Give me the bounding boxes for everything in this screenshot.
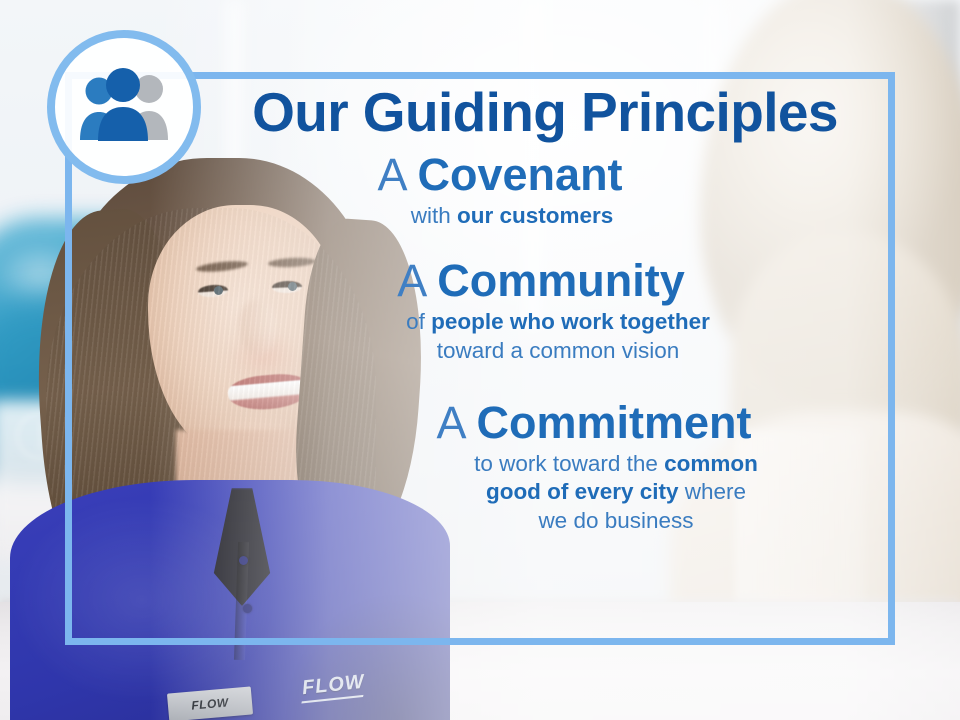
principle-subtext: with our customers <box>140 202 860 231</box>
subtext-part: where <box>679 479 747 504</box>
principle-subtext-line: we do business <box>372 507 860 536</box>
subtext-part-bold: our customers <box>457 203 613 228</box>
page-title: Our Guiding Principles <box>100 84 860 142</box>
principles-content: Our Guiding Principles A Covenant with o… <box>100 84 860 536</box>
subtext-part: toward a common vision <box>437 338 680 363</box>
principle-heading: A Covenant <box>140 152 860 199</box>
subtext-part: with <box>411 203 457 228</box>
guiding-principles-graphic: FLOW FLOW Our Guiding Principles A <box>0 0 960 720</box>
subtext-part: to work toward the <box>474 451 664 476</box>
subtext-part-bold: good of every city <box>486 479 679 504</box>
principle-subtext: to work toward the common good of every … <box>328 450 860 536</box>
principle-article: A <box>377 149 405 200</box>
subtext-part: of <box>406 309 431 334</box>
principle-keyword: Community <box>437 255 685 306</box>
principle-community: A Community of people who work together … <box>100 258 860 365</box>
principle-covenant: A Covenant with our customers <box>100 152 860 231</box>
principle-subtext-line: good of every city where <box>372 478 860 507</box>
principle-keyword: Covenant <box>418 149 623 200</box>
principle-subtext-line: with our customers <box>164 202 860 231</box>
subtext-part-bold: common <box>664 451 758 476</box>
name-badge-brand: FLOW <box>191 695 229 712</box>
principle-article: A <box>397 255 425 306</box>
principle-heading: A Commitment <box>328 400 860 447</box>
employee-shirt-button <box>243 604 252 613</box>
principle-article: A <box>436 397 464 448</box>
principle-keyword: Commitment <box>477 397 752 448</box>
subtext-part-bold: people who work together <box>431 309 710 334</box>
principle-heading: A Community <box>222 258 860 305</box>
subtext-part: we do business <box>538 508 693 533</box>
principle-subtext-line: toward a common vision <box>256 337 860 366</box>
principle-subtext-line: to work toward the common <box>372 450 860 479</box>
principle-commitment: A Commitment to work toward the common g… <box>100 400 860 536</box>
principle-subtext-line: of people who work together <box>256 308 860 337</box>
employee-shirt-button <box>239 556 248 565</box>
principle-subtext: of people who work together toward a com… <box>222 308 860 366</box>
